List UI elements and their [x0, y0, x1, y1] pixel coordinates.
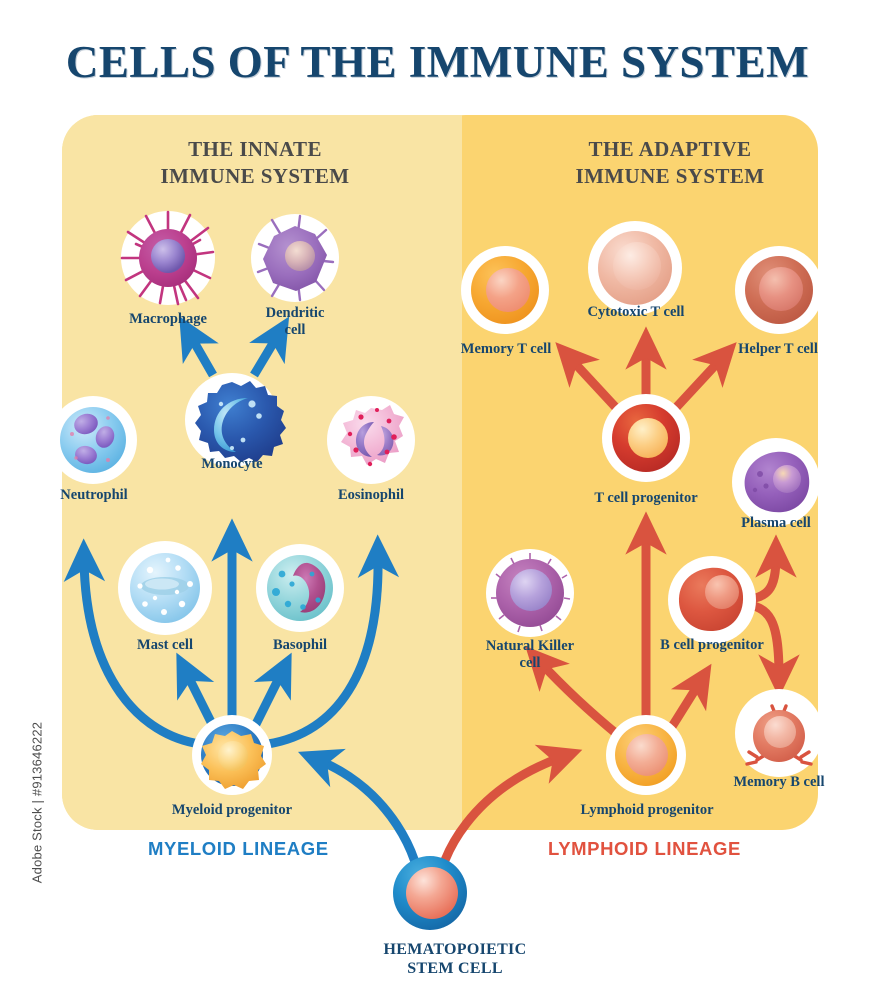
- label-nk-line2: cell: [520, 655, 541, 671]
- stock-watermark: Adobe Stock | #913646222: [30, 688, 45, 918]
- label-mast-cell: Mast cell: [100, 637, 230, 654]
- label-dendritic-line2: cell: [285, 322, 306, 338]
- label-monocyte: Monocyte: [162, 456, 302, 473]
- label-memory-b-cell: Memory B cell: [708, 774, 850, 791]
- innate-heading-line1: THE INNATE: [110, 136, 400, 163]
- hematopoietic-stem-cell-icon: [393, 856, 467, 930]
- label-eosinophil: Eosinophil: [303, 487, 439, 504]
- label-macrophage: Macrophage: [98, 311, 238, 328]
- label-lymphoid-progenitor: Lymphoid progenitor: [552, 802, 742, 819]
- hematopoietic-stem-cell-caption: HEMATOPOIETIC STEM CELL: [325, 940, 585, 978]
- stem-caption-line2: STEM CELL: [325, 959, 585, 978]
- label-nk-line1: Natural Killer: [486, 638, 574, 654]
- lymphoid-lineage-caption: LYMPHOID LINEAGE: [548, 838, 741, 860]
- myeloid-lineage-caption: MYELOID LINEAGE: [148, 838, 329, 860]
- innate-panel-notch: [62, 115, 434, 675]
- adaptive-heading-line1: THE ADAPTIVE: [515, 136, 825, 163]
- innate-heading-line2: IMMUNE SYSTEM: [110, 163, 400, 190]
- label-natural-killer-cell: Natural Killer cell: [460, 638, 600, 672]
- label-memory-t-cell: Memory T cell: [435, 341, 577, 358]
- stem-caption-line1: HEMATOPOIETIC: [325, 940, 585, 959]
- label-myeloid-progenitor: Myeloid progenitor: [142, 802, 322, 819]
- label-neutrophil: Neutrophil: [26, 487, 162, 504]
- adaptive-heading-line2: IMMUNE SYSTEM: [515, 163, 825, 190]
- label-plasma-cell: Plasma cell: [710, 515, 842, 532]
- label-basophil: Basophil: [238, 637, 362, 654]
- page-title: CELLS OF THE IMMUNE SYSTEM: [0, 36, 875, 88]
- label-cytotoxic-t-cell: Cytotoxic T cell: [560, 304, 712, 321]
- label-dendritic-cell: Dendritic cell: [245, 305, 345, 339]
- label-t-cell-progenitor: T cell progenitor: [564, 490, 728, 507]
- label-b-cell-progenitor: B cell progenitor: [635, 637, 789, 654]
- adaptive-section-heading: THE ADAPTIVE IMMUNE SYSTEM: [515, 136, 825, 190]
- label-helper-t-cell: Helper T cell: [712, 341, 844, 358]
- label-dendritic-line1: Dendritic: [266, 305, 325, 321]
- adaptive-panel-background: [430, 115, 818, 830]
- diagram-canvas: CELLS OF THE IMMUNE SYSTEM THE INNATE IM…: [0, 0, 875, 1000]
- innate-section-heading: THE INNATE IMMUNE SYSTEM: [110, 136, 400, 190]
